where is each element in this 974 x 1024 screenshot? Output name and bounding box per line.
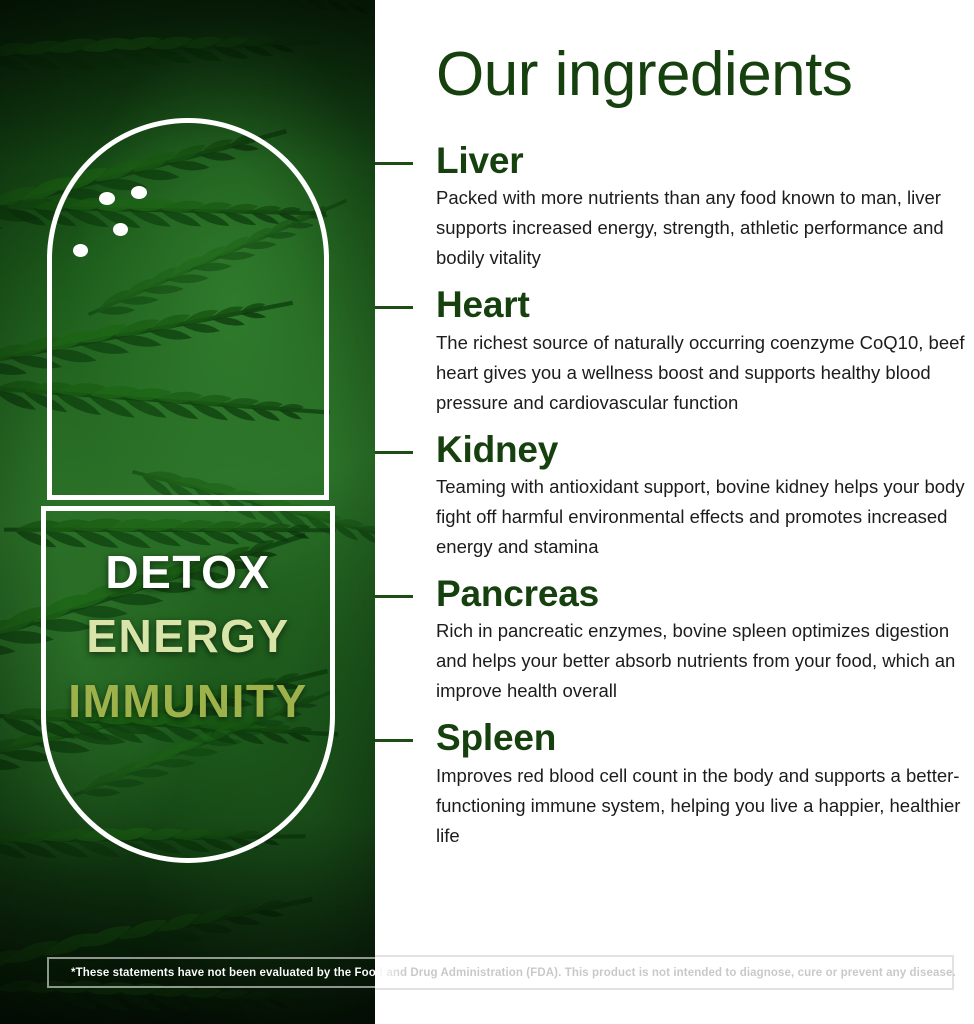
capsule-seam-upper [47,495,329,500]
ingredient-list: Liver Packed with more nutrients than an… [375,140,974,862]
connector-dash-icon [375,306,413,309]
ingredient-item-kidney: Kidney Teaming with antioxidant support,… [375,429,974,562]
capsule-graphic: DETOX ENERGY IMMUNITY [47,118,329,863]
benefit-word-detox: DETOX [47,548,329,596]
capsule-benefit-words: DETOX ENERGY IMMUNITY [47,548,329,725]
connector-dash-icon [375,595,413,598]
connector-dash-icon [375,451,413,454]
capsule-top-half [47,118,329,498]
ingredient-item-pancreas: Pancreas Rich in pancreatic enzymes, bov… [375,573,974,706]
ingredient-description: Improves red blood cell count in the bod… [436,761,974,851]
connector-dash-icon [375,739,413,742]
ingredient-name: Kidney [436,429,974,470]
ingredient-item-liver: Liver Packed with more nutrients than an… [375,140,974,273]
fern-photo-panel: DETOX ENERGY IMMUNITY [0,0,375,1024]
capsule-sparkle-dot-icon [131,186,147,199]
ingredients-content-panel: Our ingredients Liver Packed with more n… [375,0,974,1024]
ingredient-description: Rich in pancreatic enzymes, bovine splee… [436,616,974,706]
page-title: Our ingredients [436,44,852,106]
benefit-word-energy: ENERGY [47,612,329,660]
capsule-sparkle-dot-icon [99,192,115,205]
ingredient-name: Spleen [436,717,974,758]
ingredient-name: Liver [436,140,974,181]
benefit-word-immunity: IMMUNITY [47,677,329,725]
ingredient-item-spleen: Spleen Improves red blood cell count in … [375,717,974,850]
infographic-page: DETOX ENERGY IMMUNITY Our ingredients Li… [0,0,974,1024]
ingredient-name: Heart [436,284,974,325]
ingredient-description: Teaming with antioxidant support, bovine… [436,472,974,562]
disclaimer-box-right-border [375,955,954,990]
connector-dash-icon [375,162,413,165]
ingredient-description: Packed with more nutrients than any food… [436,183,974,273]
ingredient-item-heart: Heart The richest source of naturally oc… [375,284,974,417]
ingredient-description: The richest source of naturally occurrin… [436,328,974,418]
capsule-sparkle-dot-icon [113,223,128,236]
capsule-sparkle-dot-icon [73,244,88,257]
ingredient-name: Pancreas [436,573,974,614]
